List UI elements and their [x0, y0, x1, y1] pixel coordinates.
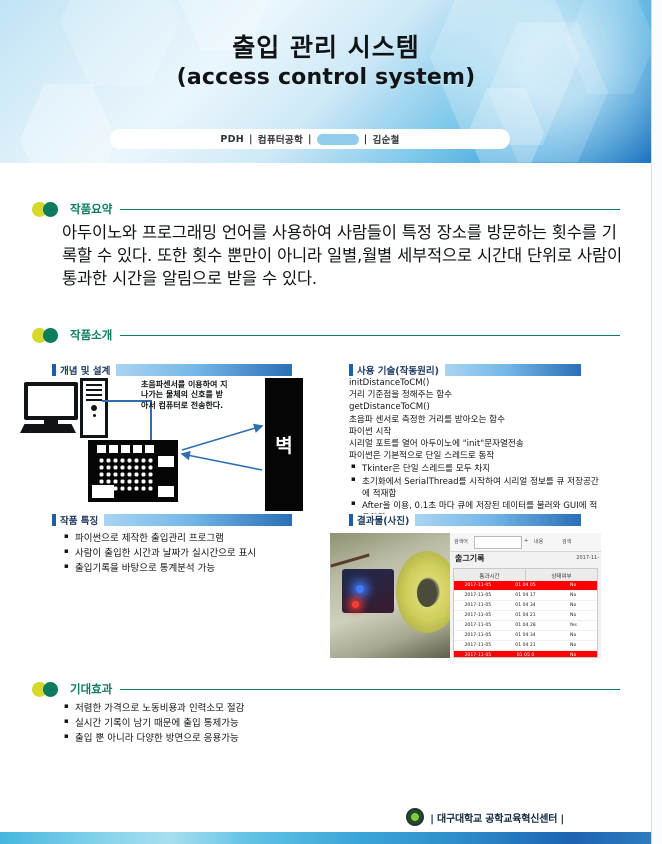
- byline-separator-1: |: [249, 134, 253, 145]
- gui-cell: No: [549, 633, 597, 638]
- tech-bullet: Tkinter은 단일 스레드를 모두 차지: [362, 463, 605, 475]
- gui-table-row[interactable]: 2017-11-0501 04 21No: [454, 641, 597, 651]
- gui-search-label: 검색어: [454, 538, 468, 545]
- subheader-label-result: 결과물(사진): [353, 514, 415, 526]
- subheader-gradient: [104, 514, 292, 526]
- tech-bullet: 초기화에서 SerialThread를 시작하여 시리얼 정보를 큐 저장공간에…: [362, 476, 605, 500]
- gui-cell: 01 04 21: [502, 643, 550, 648]
- gui-cell: No: [549, 603, 597, 608]
- tech-line: 거리 기준점을 정해주는 함수: [349, 389, 605, 401]
- section-rule-intro: [120, 335, 620, 336]
- gui-search-input[interactable]: [474, 536, 522, 549]
- subheader-gradient: [415, 514, 581, 526]
- right-margin: [651, 0, 662, 844]
- blue-led: [356, 585, 364, 593]
- gui-screenshot: 검색어 + 내용 검색 출그기록 2017-11- 통과시간상태여부 2017-…: [450, 533, 601, 658]
- subheader-design: 개념 및 설계: [52, 364, 292, 376]
- section-header-intro: 작품소개: [32, 326, 620, 344]
- section-label-summary: 작품요약: [70, 201, 112, 217]
- subheader-label-design: 개념 및 설계: [56, 364, 116, 376]
- wall-block: 벽: [265, 378, 303, 511]
- page-title-ko: 출입 관리 시스템: [0, 34, 652, 63]
- gui-cell: 01 04 28: [502, 623, 550, 628]
- result-photo: 검색어 + 내용 검색 출그기록 2017-11- 통과시간상태여부 2017-…: [330, 533, 601, 658]
- gui-cell: 2017-11-05: [454, 593, 502, 598]
- section-header-summary: 작품요약: [32, 200, 620, 218]
- gui-cell: 01 04 17: [502, 593, 550, 598]
- gui-cell: 2017-11-05: [454, 653, 502, 658]
- redacted-field: [317, 134, 359, 145]
- gui-panel-title: 출그기록: [455, 553, 484, 564]
- subheader-gradient: [445, 364, 581, 376]
- wall-label: 벽: [275, 431, 292, 458]
- gui-cell: 01 05 0: [502, 653, 550, 658]
- feature-bullet: 사람이 출입한 시간과 날짜가 실시간으로 표시: [75, 547, 312, 561]
- green-dots-icon: [32, 327, 66, 343]
- subheader-result: 결과물(사진): [349, 514, 581, 526]
- gui-search-button[interactable]: 검색: [562, 538, 571, 545]
- gui-cell: 2017-11-05: [454, 623, 502, 628]
- tech-line: 파이썬은 기본적으로 단일 스레드로 동작: [349, 450, 605, 462]
- summary-body: 아두이노와 프로그래밍 언어를 사용하여 사람들이 특정 장소를 방문하는 횟수…: [62, 222, 622, 290]
- tech-description: initDistanceToCM()거리 기준점을 정해주는 함수getDist…: [349, 377, 605, 524]
- subheader-label-tech: 사용 기술(작동원리): [353, 364, 445, 376]
- subheader-features: 작품 특징: [52, 514, 292, 526]
- gui-cell: 01 04 05: [502, 583, 550, 588]
- tech-line: 파이썬 시작: [349, 426, 605, 438]
- gui-table-row[interactable]: 2017-11-0501 04 17No: [454, 591, 597, 601]
- section-rule-effect: [120, 689, 620, 690]
- subheader-tech: 사용 기술(작동원리): [349, 364, 581, 376]
- gui-cell: No: [549, 583, 597, 588]
- gui-cell: 2017-11-05: [454, 583, 502, 588]
- poster-header: 출입 관리 시스템 (access control system) PDH | …: [0, 0, 652, 163]
- poster-footer: | 대구대학교 공학교육혁신센터 |: [0, 802, 652, 832]
- byline-department: 컴퓨터공학: [258, 132, 303, 146]
- byline-author: 김순철: [373, 132, 400, 146]
- concept-diagram: 초음파센서를 이용하여 지나가는 물체의 신호를 받아서 컴퓨터로 전송한다. …: [24, 378, 324, 503]
- red-led: [352, 601, 359, 608]
- green-dots-icon: [32, 681, 66, 697]
- gui-table-row[interactable]: 2017-11-0501 04 05No: [454, 581, 597, 591]
- page-title-block: 출입 관리 시스템 (access control system): [0, 34, 652, 90]
- effect-bullet: 저렴한 가격으로 노동비용과 인력소모 절감: [75, 702, 422, 716]
- page-title-en: (access control system): [0, 65, 652, 90]
- section-header-effect: 기대효과: [32, 680, 620, 698]
- effect-bullet: 실시간 기록이 남기 때문에 출입 통제가능: [75, 717, 422, 731]
- university-logo-icon: [406, 808, 424, 826]
- tech-line: getDistanceToCM(): [349, 401, 605, 413]
- gui-cell: 2017-11-05: [454, 603, 502, 608]
- gui-cell: 2017-11-05: [454, 643, 502, 648]
- hex-decor-3: [468, 88, 544, 163]
- gui-table-row[interactable]: 2017-11-0501 04 21No: [454, 611, 597, 621]
- arduino-module: [342, 569, 394, 613]
- footer-text: | 대구대학교 공학교육혁신센터 |: [430, 810, 564, 825]
- section-label-effect: 기대효과: [70, 681, 112, 697]
- gui-cell: No: [549, 643, 597, 648]
- gui-cell: 2017-11-05: [454, 613, 502, 618]
- byline-code: PDH: [220, 134, 244, 145]
- gui-table-row[interactable]: 2017-11-0501 04 34No: [454, 601, 597, 611]
- tech-line: 시리얼 포트를 열어 아두이노에 "init"문자열전송: [349, 438, 605, 450]
- gui-cell: 01 04 34: [502, 633, 550, 638]
- tech-line: 초음파 센서로 측정한 거리를 받아오는 함수: [349, 414, 605, 426]
- features-bullet-list: 파이썬으로 제작한 출입관리 프로그램사람이 출입한 시간과 날짜가 실시간으로…: [62, 532, 312, 576]
- tape-roll: [396, 551, 458, 633]
- subheader-gradient: [116, 364, 292, 376]
- gui-table-row[interactable]: 2017-11-0501 04 34No: [454, 631, 597, 641]
- tech-line: initDistanceToCM(): [349, 377, 605, 389]
- gui-plus-icon: +: [524, 538, 528, 544]
- gui-cell: 01 04 34: [502, 603, 550, 608]
- gui-field2-label: 내용: [534, 538, 543, 545]
- byline-separator-2: |: [308, 134, 312, 145]
- subheader-label-features: 작품 특징: [56, 514, 104, 526]
- gui-table-row[interactable]: 2017-11-0501 04 28Yes: [454, 621, 597, 631]
- effect-bullet-list: 저렴한 가격으로 노동비용과 인력소모 절감실시간 기록이 남기 때문에 출입 …: [62, 702, 422, 746]
- gui-toolbar: 검색어 + 내용 검색: [450, 533, 601, 552]
- section-rule-summary: [120, 209, 620, 210]
- section-label-intro: 작품소개: [70, 327, 112, 343]
- poster-page: 출입 관리 시스템 (access control system) PDH | …: [0, 0, 652, 844]
- gui-cell: No: [549, 613, 597, 618]
- gui-table-row[interactable]: 2017-11-0501 05 0No: [454, 651, 597, 658]
- gui-meta: 2017-11-: [576, 555, 599, 561]
- gui-cell: 01 04 21: [502, 613, 550, 618]
- gui-cell: Yes: [549, 623, 597, 628]
- gui-cell: No: [549, 653, 597, 658]
- byline: PDH | 컴퓨터공학 | | 김순철: [110, 129, 510, 149]
- bottom-accent-strip: [0, 832, 652, 844]
- gui-cell: 2017-11-05: [454, 633, 502, 638]
- feature-bullet: 출입기록을 바탕으로 통계분석 가능: [75, 562, 312, 576]
- effect-bullet: 출입 뿐 아니라 다양한 방면으로 응용가능: [75, 732, 422, 746]
- gui-table-body: 2017-11-0501 04 05No2017-11-0501 04 17No…: [453, 581, 598, 658]
- green-dots-icon: [32, 201, 66, 217]
- hardware-photo: [330, 533, 450, 658]
- byline-separator-3: |: [364, 134, 368, 145]
- gui-cell: No: [549, 593, 597, 598]
- feature-bullet: 파이썬으로 제작한 출입관리 프로그램: [75, 532, 312, 546]
- hex-decor-4: [20, 84, 116, 163]
